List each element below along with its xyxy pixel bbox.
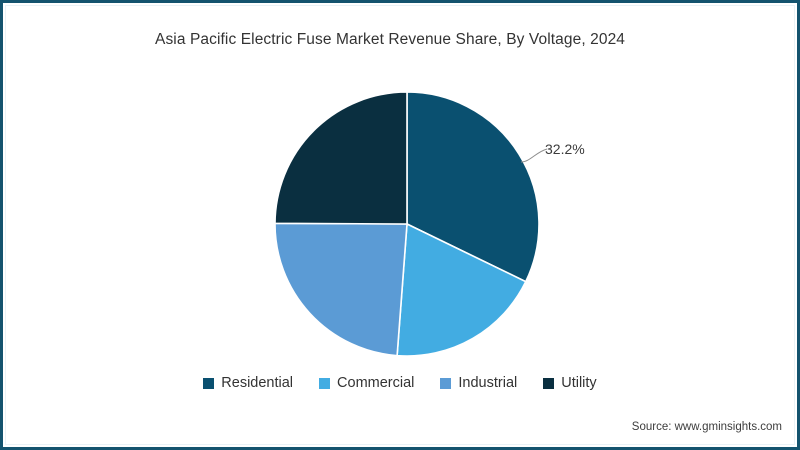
legend-label: Residential — [221, 375, 293, 391]
pie-chart — [274, 91, 540, 357]
chart-legend: ResidentialCommercialIndustrialUtility — [0, 375, 800, 391]
legend-swatch-residential — [203, 378, 214, 389]
legend-item-utility[interactable]: Utility — [543, 375, 596, 391]
legend-label: Utility — [561, 375, 596, 391]
legend-label: Commercial — [337, 375, 414, 391]
legend-item-industrial[interactable]: Industrial — [440, 375, 517, 391]
legend-item-residential[interactable]: Residential — [203, 375, 293, 391]
page-title: Asia Pacific Electric Fuse Market Revenu… — [155, 30, 715, 50]
pie-slice-industrial[interactable] — [275, 223, 407, 355]
legend-item-commercial[interactable]: Commercial — [319, 375, 414, 391]
source-attribution: Source: www.gminsights.com — [632, 421, 782, 433]
chart-figure: Asia Pacific Electric Fuse Market Revenu… — [0, 0, 800, 450]
legend-swatch-commercial — [319, 378, 330, 389]
legend-swatch-industrial — [440, 378, 451, 389]
legend-label: Industrial — [458, 375, 517, 391]
legend-swatch-utility — [543, 378, 554, 389]
slice-data-label-residential: 32.2% — [545, 141, 585, 157]
pie-slice-utility[interactable] — [275, 92, 407, 224]
pie-slices-group — [274, 91, 540, 357]
